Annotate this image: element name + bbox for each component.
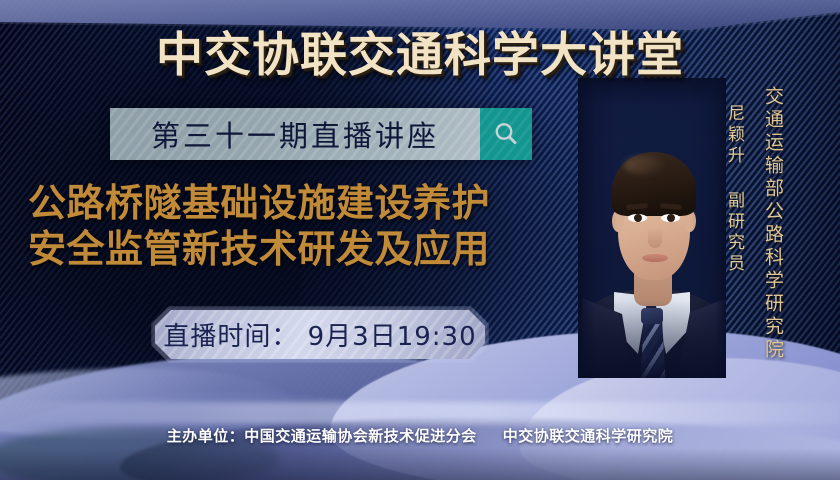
lecture-title-line-2: 安全监管新技术研发及应用 [28,226,588,272]
speaker-name-title: 尼颖升 副研究员 [722,104,747,275]
time-badge-label: 直播时间： 9月3日19:30 [163,316,476,353]
livestream-poster: 中交协联交通科学大讲堂 第三十一期直播讲座 公路桥隧基础设施建设养护 安全监管新… [0,0,840,480]
footer-organizer-1: 中国交通运输协会新技术促进分会 [244,427,477,445]
episode-banner: 第三十一期直播讲座 [110,108,532,160]
time-badge: 直播时间： 9月3日19:30 [155,310,485,359]
episode-banner-body: 第三十一期直播讲座 [110,108,480,160]
footer-prefix: 主办单位： [167,427,245,445]
photo-edge-fade [578,78,726,378]
speaker-photo [578,78,726,378]
speaker-organization: 交通运输部公路科学研究院 [760,86,787,362]
speaker-photo-inner [578,78,726,378]
lecture-title-line-1: 公路桥隧基础设施建设养护 [28,180,588,226]
episode-label: 第三十一期直播讲座 [151,113,439,155]
search-icon [493,121,519,147]
footer-organizers: 主办单位：中国交通运输协会新技术促进分会中交协联交通科学研究院 [0,425,840,446]
page-title: 中交协联交通科学大讲堂 [0,16,840,85]
lecture-title: 公路桥隧基础设施建设养护 安全监管新技术研发及应用 [28,180,588,272]
search-button[interactable] [480,108,532,160]
footer-organizer-2: 中交协联交通科学研究院 [503,427,674,445]
